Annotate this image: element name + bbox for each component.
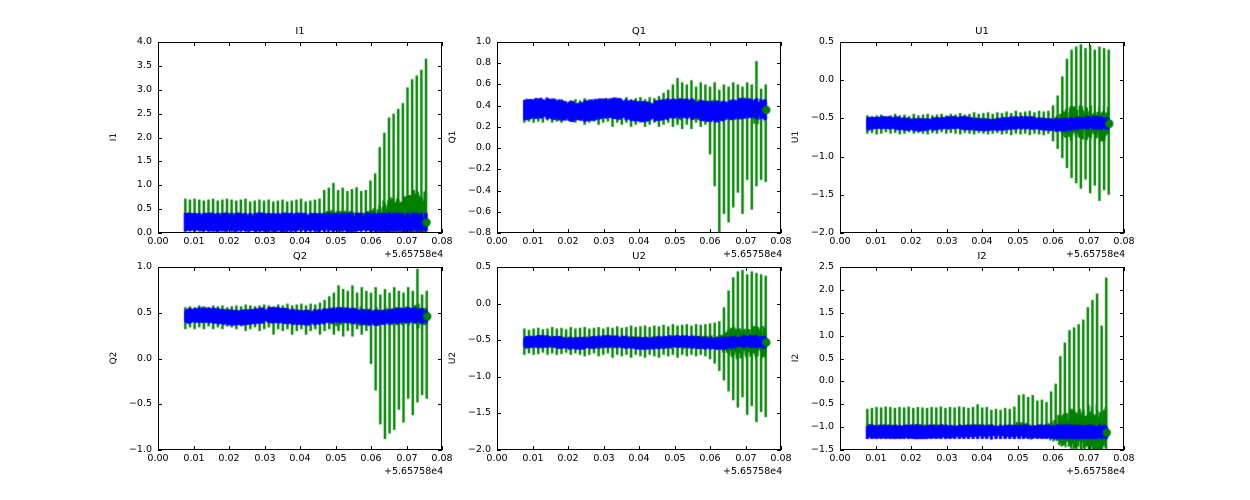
xtick-mark-top (371, 42, 372, 46)
xtick-mark (533, 446, 534, 450)
ytick-mark-right (777, 127, 781, 128)
xtick-label: 0.02 (205, 237, 253, 247)
xtick-mark-top (876, 267, 877, 271)
xtick-mark-top (194, 42, 195, 46)
xtick-mark (497, 446, 498, 450)
xtick-mark (371, 229, 372, 233)
xtick-mark-top (336, 42, 337, 46)
ytick-mark-right (1120, 427, 1124, 428)
ytick-label: 1.0 (114, 180, 152, 190)
ytick-mark-right (438, 90, 442, 91)
xtick-mark-top (300, 267, 301, 271)
ytick-mark-right (1120, 404, 1124, 405)
ytick-label: −0.6 (453, 207, 491, 217)
xtick-label: 0.03 (241, 237, 289, 247)
x-offset-label: +5.65758e4 (384, 250, 443, 260)
xtick-mark-top (781, 267, 782, 271)
ytick-mark-right (777, 233, 781, 234)
xtick-label: 0.04 (615, 454, 663, 464)
xtick-mark-top (947, 42, 948, 46)
xtick-label: 0.00 (816, 237, 864, 247)
xtick-label: 0.04 (958, 237, 1006, 247)
ytick-mark-right (777, 212, 781, 213)
ytick-mark (497, 106, 501, 107)
ytick-mark-right (1120, 267, 1124, 268)
ytick-label: −2.0 (796, 228, 834, 238)
ytick-mark (840, 404, 844, 405)
xtick-mark (604, 229, 605, 233)
xtick-mark-top (1018, 42, 1019, 46)
series-plot-q1 (498, 43, 780, 232)
xtick-label: 0.02 (544, 237, 592, 247)
ytick-mark-right (1120, 290, 1124, 291)
ytick-mark (497, 340, 501, 341)
ytick-label: 2.0 (114, 133, 152, 143)
ytick-mark (840, 157, 844, 158)
xtick-mark-top (229, 42, 230, 46)
xtick-label: 0.06 (1029, 454, 1077, 464)
ytick-mark (497, 169, 501, 170)
xtick-mark-top (407, 267, 408, 271)
panel-i2: I2I20.000.010.020.030.040.050.060.070.08… (0, 0, 1250, 500)
series-plot-q2 (159, 268, 441, 449)
ytick-label: 3.0 (114, 85, 152, 95)
xtick-mark-top (911, 42, 912, 46)
ytick-mark-right (777, 63, 781, 64)
ytick-label: −1.0 (114, 445, 152, 455)
xtick-mark-top (746, 267, 747, 271)
xtick-mark (604, 446, 605, 450)
xtick-mark-top (229, 267, 230, 271)
ytick-label: 1.5 (114, 156, 152, 166)
xtick-mark (876, 229, 877, 233)
x-offset-label: +5.65758e4 (1066, 250, 1125, 260)
ytick-label: −0.5 (796, 113, 834, 123)
xtick-label: 0.05 (651, 454, 699, 464)
xtick-mark-top (876, 42, 877, 46)
ytick-mark (158, 450, 162, 451)
ytick-mark-right (438, 450, 442, 451)
xtick-mark-top (840, 42, 841, 46)
xtick-mark-top (639, 42, 640, 46)
xtick-mark (1053, 229, 1054, 233)
ytick-mark (497, 42, 501, 43)
xtick-mark (947, 229, 948, 233)
axes-u2 (497, 267, 781, 450)
ytick-label: 2.0 (796, 285, 834, 295)
xtick-label: 0.08 (757, 237, 805, 247)
xtick-label: 0.08 (757, 454, 805, 464)
xtick-label: 0.01 (170, 237, 218, 247)
panel-q1: Q1Q10.000.010.020.030.040.050.060.070.08… (0, 0, 1250, 500)
ytick-mark-right (777, 413, 781, 414)
ytick-label: 0.5 (114, 308, 152, 318)
xtick-label: 0.02 (887, 454, 935, 464)
xtick-label: 0.05 (651, 237, 699, 247)
ytick-mark (497, 450, 501, 451)
ytick-mark (497, 191, 501, 192)
xtick-mark (911, 446, 912, 450)
panel-title-u1: U1 (840, 26, 1124, 38)
xtick-mark (1018, 229, 1019, 233)
xtick-label: 0.07 (722, 237, 770, 247)
xtick-mark-top (1124, 42, 1125, 46)
xtick-mark (781, 446, 782, 450)
ytick-mark (158, 138, 162, 139)
xtick-mark-top (371, 267, 372, 271)
xtick-mark-top (497, 42, 498, 46)
ytick-mark-right (777, 304, 781, 305)
xtick-mark (497, 229, 498, 233)
xtick-mark-top (158, 267, 159, 271)
ytick-mark-right (438, 185, 442, 186)
ytick-mark (497, 233, 501, 234)
xtick-mark (568, 229, 569, 233)
ytick-mark-right (1120, 118, 1124, 119)
ytick-mark (840, 267, 844, 268)
ytick-label: 0.5 (114, 204, 152, 214)
xtick-mark-top (1053, 267, 1054, 271)
ytick-label: 1.0 (114, 262, 152, 272)
ytick-mark-right (777, 267, 781, 268)
xtick-mark (911, 229, 912, 233)
xtick-mark (300, 229, 301, 233)
xtick-label: 0.01 (509, 237, 557, 247)
ytick-mark (840, 42, 844, 43)
ytick-mark (158, 233, 162, 234)
xtick-mark (746, 446, 747, 450)
xtick-mark (710, 446, 711, 450)
xtick-mark-top (1124, 267, 1125, 271)
xtick-mark-top (442, 42, 443, 46)
xtick-label: 0.06 (686, 454, 734, 464)
ytick-mark (840, 195, 844, 196)
xtick-label: 0.06 (347, 454, 395, 464)
axes-q2 (158, 267, 442, 450)
xtick-label: 0.00 (473, 237, 521, 247)
ytick-label: 2.5 (796, 262, 834, 272)
ytick-mark-right (438, 114, 442, 115)
ytick-mark (158, 161, 162, 162)
ytick-mark (158, 114, 162, 115)
ytick-label: 1.5 (796, 308, 834, 318)
ytick-mark-right (1120, 195, 1124, 196)
xtick-mark (336, 229, 337, 233)
ytick-label: −2.0 (453, 445, 491, 455)
ytick-label: 0.0 (796, 75, 834, 85)
xtick-mark-top (639, 267, 640, 271)
xtick-mark (746, 229, 747, 233)
ytick-mark-right (1120, 359, 1124, 360)
xtick-label: 0.08 (418, 237, 466, 247)
ylabel-i2: I2 (791, 328, 801, 388)
series-plot-i2 (841, 268, 1123, 449)
xtick-mark-top (947, 267, 948, 271)
ytick-mark-right (1120, 381, 1124, 382)
ytick-label: −0.5 (114, 399, 152, 409)
ytick-label: 0.5 (796, 37, 834, 47)
xtick-mark (300, 446, 301, 450)
panel-title-i2: I2 (840, 251, 1124, 263)
xtick-mark-top (1018, 267, 1019, 271)
panel-title-q1: Q1 (497, 26, 781, 38)
ytick-label: 0.0 (796, 376, 834, 386)
ytick-mark (497, 304, 501, 305)
xtick-label: 0.05 (312, 454, 360, 464)
ytick-mark (158, 359, 162, 360)
xtick-mark (675, 446, 676, 450)
ytick-label: 0.8 (453, 58, 491, 68)
series-plot-i1 (159, 43, 441, 232)
xtick-mark-top (158, 42, 159, 46)
xtick-mark (265, 229, 266, 233)
ytick-mark-right (777, 191, 781, 192)
xtick-label: 0.04 (276, 454, 324, 464)
ytick-label: 0.4 (453, 101, 491, 111)
xtick-mark-top (336, 267, 337, 271)
ylabel-i1: I1 (109, 107, 119, 167)
ytick-mark (158, 185, 162, 186)
xtick-mark-top (840, 267, 841, 271)
ytick-mark (158, 404, 162, 405)
ytick-label: 4.0 (114, 37, 152, 47)
xtick-mark (675, 229, 676, 233)
xtick-label: 0.07 (383, 237, 431, 247)
xtick-mark (1018, 446, 1019, 450)
xtick-mark (840, 446, 841, 450)
ytick-label: −1.0 (796, 152, 834, 162)
xtick-mark (947, 446, 948, 450)
xtick-label: 0.00 (134, 454, 182, 464)
xtick-label: 0.02 (205, 454, 253, 464)
ytick-label: 2.5 (114, 109, 152, 119)
ytick-mark (497, 84, 501, 85)
xtick-mark (371, 446, 372, 450)
ytick-mark-right (777, 169, 781, 170)
ytick-label: −1.5 (796, 190, 834, 200)
ytick-mark-right (438, 359, 442, 360)
ytick-mark (497, 212, 501, 213)
xtick-label: 0.01 (170, 454, 218, 464)
ytick-mark (840, 336, 844, 337)
xtick-label: 0.00 (134, 237, 182, 247)
xtick-mark-top (1089, 267, 1090, 271)
axes-i1 (158, 42, 442, 233)
xtick-mark (229, 446, 230, 450)
ytick-label: −0.5 (796, 399, 834, 409)
xtick-label: 0.04 (958, 454, 1006, 464)
xtick-label: 0.02 (544, 454, 592, 464)
ytick-mark-right (1120, 313, 1124, 314)
xtick-mark (1053, 446, 1054, 450)
xtick-mark-top (497, 267, 498, 271)
xtick-label: 0.05 (994, 454, 1042, 464)
ytick-mark-right (1120, 157, 1124, 158)
x-offset-label: +5.65758e4 (723, 250, 782, 260)
xtick-label: 0.06 (347, 237, 395, 247)
panel-q2: Q2Q20.000.010.020.030.040.050.060.070.08… (0, 0, 1250, 500)
ytick-label: −0.4 (453, 186, 491, 196)
ylabel-q2: Q2 (109, 328, 119, 388)
ytick-label: −0.5 (453, 335, 491, 345)
ytick-mark (497, 148, 501, 149)
xtick-label: 0.06 (1029, 237, 1077, 247)
xtick-mark (710, 229, 711, 233)
ytick-label: −1.0 (796, 422, 834, 432)
series-plot-u2 (498, 268, 780, 449)
xtick-mark-top (1089, 42, 1090, 46)
xtick-mark-top (746, 42, 747, 46)
xtick-mark-top (675, 42, 676, 46)
ytick-label: 0.0 (453, 143, 491, 153)
xtick-mark-top (982, 267, 983, 271)
panel-u1: U1U10.000.010.020.030.040.050.060.070.08… (0, 0, 1250, 500)
xtick-mark-top (407, 42, 408, 46)
xtick-mark (568, 446, 569, 450)
xtick-mark (158, 229, 159, 233)
ytick-mark-right (438, 138, 442, 139)
ytick-mark (158, 267, 162, 268)
xtick-mark (336, 446, 337, 450)
xtick-mark (840, 229, 841, 233)
xtick-label: 0.03 (241, 454, 289, 464)
ytick-mark-right (438, 267, 442, 268)
xtick-mark (639, 446, 640, 450)
axes-u1 (840, 42, 1124, 233)
xtick-mark-top (265, 267, 266, 271)
xtick-mark-top (710, 267, 711, 271)
xtick-mark-top (442, 267, 443, 271)
ytick-mark (840, 450, 844, 451)
x-offset-label: +5.65758e4 (1066, 467, 1125, 477)
ytick-mark (497, 413, 501, 414)
ytick-label: 0.0 (114, 354, 152, 364)
xtick-label: 0.05 (312, 237, 360, 247)
xtick-mark (982, 446, 983, 450)
panel-u2: U2U20.000.010.020.030.040.050.060.070.08… (0, 0, 1250, 500)
xtick-mark (194, 446, 195, 450)
xtick-mark-top (604, 267, 605, 271)
ytick-mark (840, 427, 844, 428)
xtick-label: 0.06 (686, 237, 734, 247)
ytick-mark (840, 359, 844, 360)
xtick-mark (781, 229, 782, 233)
ytick-mark (840, 381, 844, 382)
ytick-mark (840, 290, 844, 291)
panel-title-u2: U2 (497, 251, 781, 263)
xtick-label: 0.01 (852, 454, 900, 464)
ytick-mark-right (438, 233, 442, 234)
ytick-label: 0.6 (453, 79, 491, 89)
ytick-mark (840, 118, 844, 119)
xtick-label: 0.04 (276, 237, 324, 247)
ytick-mark-right (777, 340, 781, 341)
ytick-label: −1.0 (453, 372, 491, 382)
xtick-mark-top (194, 267, 195, 271)
xtick-mark (1089, 229, 1090, 233)
ytick-label: 0.2 (453, 122, 491, 132)
ytick-mark (497, 63, 501, 64)
x-offset-label: +5.65758e4 (723, 467, 782, 477)
ytick-mark-right (777, 42, 781, 43)
ytick-mark-right (1120, 42, 1124, 43)
xtick-mark-top (1053, 42, 1054, 46)
xtick-mark (158, 446, 159, 450)
ylabel-u2: U2 (448, 328, 458, 388)
ytick-mark-right (777, 450, 781, 451)
xtick-mark-top (265, 42, 266, 46)
xtick-mark-top (710, 42, 711, 46)
ylabel-q1: Q1 (448, 107, 458, 167)
ytick-label: 1.0 (453, 37, 491, 47)
xtick-label: 0.03 (923, 454, 971, 464)
ytick-mark (840, 233, 844, 234)
ytick-mark-right (1120, 233, 1124, 234)
ytick-mark-right (1120, 80, 1124, 81)
series-plot-u1 (841, 43, 1123, 232)
xtick-label: 0.01 (509, 454, 557, 464)
ytick-label: −1.5 (796, 445, 834, 455)
xtick-label: 0.01 (852, 237, 900, 247)
xtick-mark (407, 229, 408, 233)
ytick-label: 0.0 (453, 299, 491, 309)
xtick-label: 0.08 (1100, 454, 1148, 464)
xtick-mark-top (982, 42, 983, 46)
ytick-label: 0.5 (796, 354, 834, 364)
xtick-label: 0.07 (1065, 454, 1113, 464)
xtick-mark-top (911, 267, 912, 271)
ytick-mark (158, 66, 162, 67)
figure-canvas: I1I10.000.010.020.030.040.050.060.070.08… (0, 0, 1250, 500)
xtick-mark (442, 446, 443, 450)
xtick-mark (1124, 229, 1125, 233)
xtick-mark-top (675, 267, 676, 271)
xtick-label: 0.02 (887, 237, 935, 247)
xtick-mark-top (533, 267, 534, 271)
ytick-mark (497, 127, 501, 128)
xtick-label: 0.00 (473, 454, 521, 464)
ytick-mark (158, 42, 162, 43)
ytick-mark (497, 267, 501, 268)
xtick-mark (876, 446, 877, 450)
axes-q1 (497, 42, 781, 233)
xtick-mark (442, 229, 443, 233)
ytick-mark (840, 313, 844, 314)
x-offset-label: +5.65758e4 (384, 467, 443, 477)
ytick-label: 1.0 (796, 331, 834, 341)
panel-title-q2: Q2 (158, 251, 442, 263)
ylabel-u1: U1 (791, 107, 801, 167)
xtick-label: 0.03 (580, 237, 628, 247)
ytick-mark-right (438, 313, 442, 314)
ytick-mark-right (777, 148, 781, 149)
ytick-mark-right (777, 84, 781, 85)
ytick-label: 3.5 (114, 61, 152, 71)
ytick-mark-right (438, 161, 442, 162)
ytick-mark (158, 209, 162, 210)
xtick-mark (1124, 446, 1125, 450)
xtick-mark-top (568, 267, 569, 271)
xtick-mark-top (568, 42, 569, 46)
xtick-mark (1089, 446, 1090, 450)
xtick-mark-top (781, 42, 782, 46)
ytick-label: −0.2 (453, 164, 491, 174)
xtick-label: 0.07 (722, 454, 770, 464)
ytick-mark-right (438, 66, 442, 67)
xtick-label: 0.07 (1065, 237, 1113, 247)
ytick-mark-right (777, 377, 781, 378)
ytick-mark-right (438, 404, 442, 405)
